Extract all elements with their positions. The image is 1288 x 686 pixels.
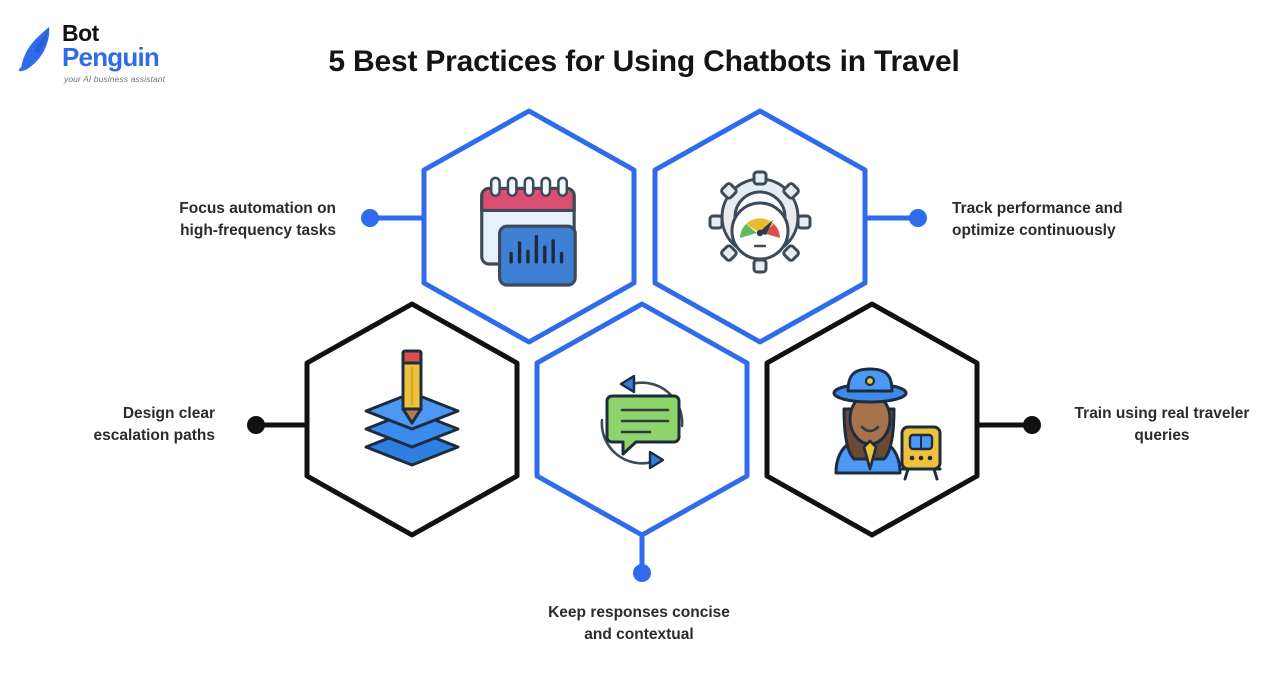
label-focus-automation: Focus automation on high-frequency tasks [90, 198, 336, 242]
connector-track-performance [861, 209, 927, 227]
label-train-traveler: Train using real traveler queries [1048, 403, 1276, 447]
connector-dot-keep-responses [633, 564, 651, 582]
connector-dot-focus-automation [361, 209, 379, 227]
connector-focus-automation [361, 209, 428, 227]
connector-dot-design-escalation [247, 416, 265, 434]
hexagon-diagram [0, 0, 1288, 686]
label-design-escalation: Design clear escalation paths [20, 403, 215, 447]
connector-keep-responses [633, 533, 651, 582]
connector-design-escalation [247, 416, 310, 434]
gear-gauge-icon [710, 172, 810, 272]
connector-dot-track-performance [909, 209, 927, 227]
label-keep-responses: Keep responses concise and contextual [489, 602, 789, 646]
label-track-performance: Track performance and optimize continuou… [952, 198, 1200, 242]
connector-train-traveler [974, 416, 1041, 434]
connector-dot-train-traveler [1023, 416, 1041, 434]
